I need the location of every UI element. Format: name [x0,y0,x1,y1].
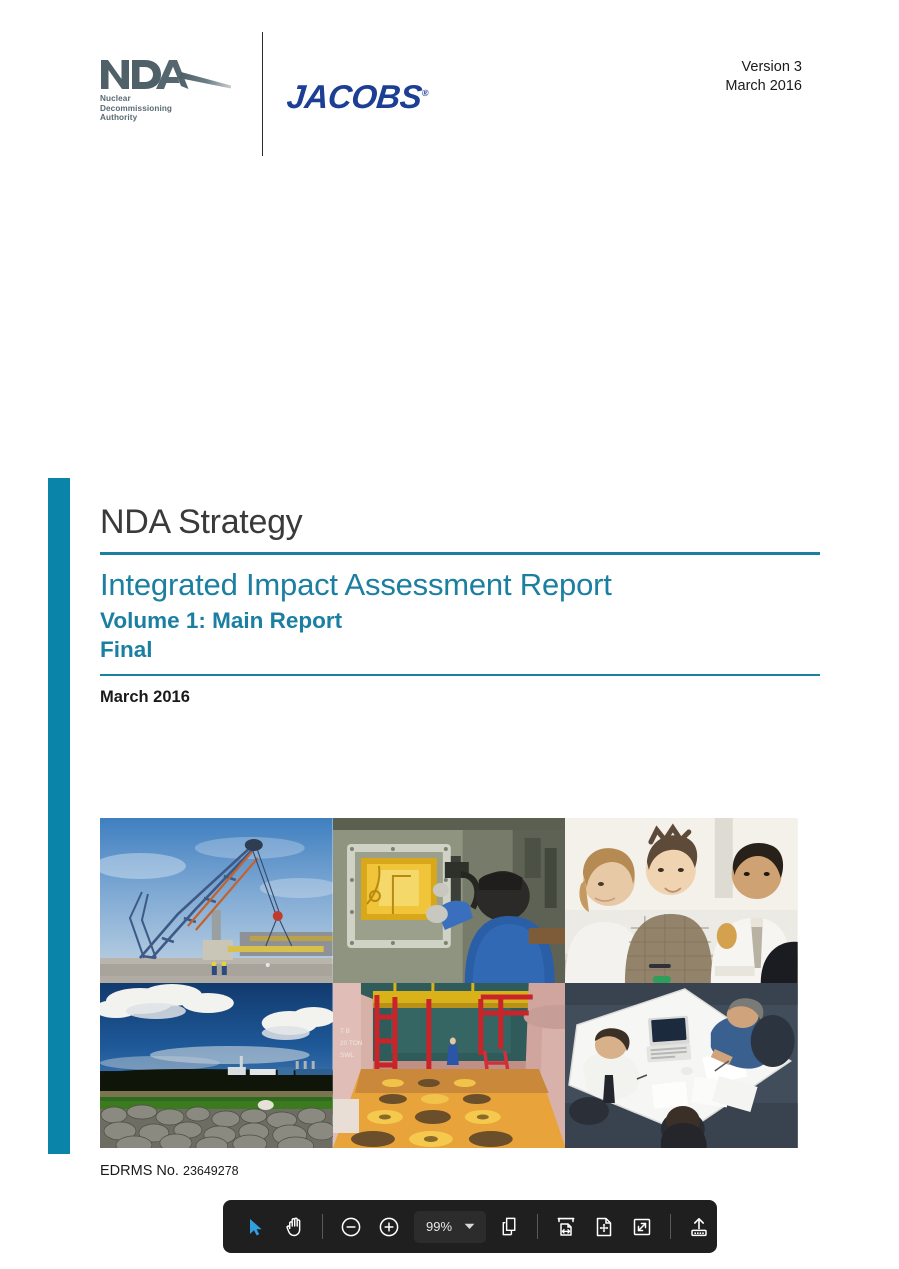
title-rule-upper [100,552,820,555]
svg-text:T B: T B [340,1028,350,1035]
title-rule-lower [100,674,820,677]
svg-text:SWL: SWL [340,1052,354,1059]
fit-width-icon [555,1216,577,1238]
hand-icon [284,1216,305,1237]
zoom-in-button[interactable] [370,1208,408,1246]
page-title: NDA Strategy [100,500,820,548]
countryside-site-photo [100,983,333,1148]
document-subtitle: Integrated Impact Assessment Report [100,565,820,605]
svg-text:20 TON: 20 TON [340,1040,363,1047]
meeting-discussion-photo [565,818,798,983]
document-page: Nuclear Decommissioning Authority JACOBS… [0,0,899,1269]
collage-tile-countryside [100,983,333,1148]
document-volume: Volume 1: Main Report [100,606,820,635]
fit-page-button[interactable] [585,1208,623,1246]
pdf-viewer-toolbar[interactable]: 99% [223,1200,717,1253]
registered-mark-icon: ® [421,88,428,98]
cover-image-collage: T B 20 TON SWL [100,818,798,1148]
version-number: Version 3 [725,58,802,77]
plus-circle-icon [378,1216,400,1238]
jacobs-logo-text: JACOBS [285,78,423,115]
nda-sub-line-1: Nuclear [100,94,172,104]
upload-icon [688,1216,710,1238]
duplicate-pages-icon [499,1216,520,1237]
collage-tile-overhead [565,983,798,1148]
nda-sub-line-3: Authority [100,113,172,123]
toolbar-separator-3 [670,1214,671,1239]
nda-logo: Nuclear Decommissioning Authority [99,58,239,120]
collage-tile-reactor: T B 20 TON SWL [333,983,566,1148]
expand-arrows-icon [631,1216,653,1238]
collage-tile-hotcell [333,818,566,983]
cursor-arrow-icon [246,1217,266,1237]
export-button[interactable] [680,1208,718,1246]
crane-demolition-photo [100,818,333,983]
minus-circle-icon [340,1216,362,1238]
edrms-label: EDRMS No. [100,1163,179,1179]
toolbar-separator-2 [537,1214,538,1239]
edrms-number: 23649278 [183,1164,239,1178]
header-vertical-divider [262,32,263,156]
chevron-down-icon [464,1223,475,1230]
page-header: Nuclear Decommissioning Authority JACOBS… [0,0,899,175]
document-date: March 2016 [100,686,820,708]
zoom-level-value: 99% [426,1219,452,1234]
version-date: March 2016 [725,77,802,96]
zoom-level-select[interactable]: 99% [414,1211,486,1243]
overhead-meeting-photo [565,983,798,1148]
title-block: NDA Strategy Integrated Impact Assessmen… [100,500,820,708]
toolbar-separator-1 [322,1214,323,1239]
select-tool-button[interactable] [237,1208,275,1246]
fit-width-button[interactable] [547,1208,585,1246]
document-status: Final [100,635,820,664]
page-view-button[interactable] [490,1208,528,1246]
collage-tile-meeting [565,818,798,983]
reactor-charge-face-photo: T B 20 TON SWL [333,983,566,1148]
zoom-out-button[interactable] [332,1208,370,1246]
fullscreen-button[interactable] [623,1208,661,1246]
fit-page-icon [593,1216,615,1238]
nda-sub-line-2: Decommissioning [100,104,172,114]
pan-tool-button[interactable] [275,1208,313,1246]
nda-logo-mark [99,58,237,92]
hot-cell-operator-photo [333,818,566,983]
jacobs-logo: JACOBS® [285,78,430,116]
collage-tile-crane [100,818,333,983]
nda-logo-subtitle: Nuclear Decommissioning Authority [100,94,172,123]
accent-side-bar [48,478,70,1154]
edrms-reference: EDRMS No. 23649278 [100,1163,239,1179]
version-block: Version 3 March 2016 [725,58,802,96]
